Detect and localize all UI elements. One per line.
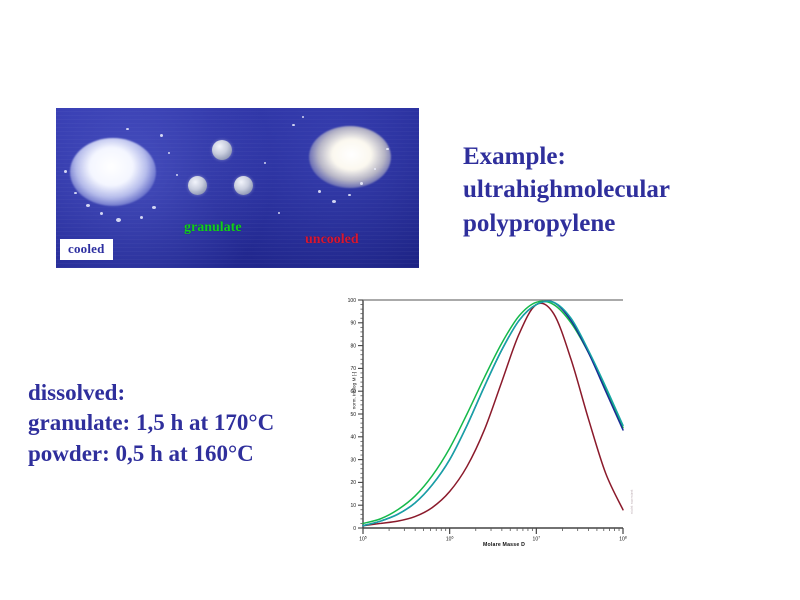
dissolution-notes-line-3: powder: 0,5 h at 160°C (28, 439, 358, 469)
svg-text:10: 10 (350, 503, 356, 509)
dissolution-notes-line-2: granulate: 1,5 h at 170°C (28, 408, 358, 438)
svg-text:107: 107 (533, 536, 541, 543)
uncooled-powder-pile (309, 126, 391, 188)
dissolution-notes-line-1: dissolved: (28, 378, 358, 408)
cooled-powder-pile (70, 138, 156, 206)
example-heading-line-3: polypropylene (463, 207, 763, 240)
chart-tick-labels: 0102030405060708090100105106107108 (348, 298, 627, 543)
granulate-bead (212, 140, 232, 160)
photo-label-uncooled: uncooled (305, 232, 359, 248)
chart-plot-svg: 0102030405060708090100105106107108 (331, 292, 631, 550)
example-heading: Example: ultrahighmolecular polypropylen… (463, 140, 763, 240)
example-heading-line-2: ultrahighmolecular (463, 173, 763, 206)
svg-text:0: 0 (353, 526, 356, 532)
chart-side-annotation: nicht normiert (630, 444, 634, 514)
svg-text:30: 30 (350, 457, 356, 463)
chart-x-axis-title: Molare Masse D (483, 542, 525, 548)
svg-text:100: 100 (348, 298, 357, 304)
chart-y-axis-title: norm. int/log M [-] (352, 341, 357, 441)
svg-text:106: 106 (446, 536, 454, 543)
svg-text:108: 108 (619, 536, 627, 543)
svg-text:20: 20 (350, 480, 356, 486)
granulate-bead (188, 176, 207, 195)
sample-photograph: cooled granulate uncooled (56, 108, 419, 268)
dissolution-notes: dissolved: granulate: 1,5 h at 170°C pow… (28, 378, 358, 469)
photo-label-cooled: cooled (60, 239, 113, 260)
granulate-bead (234, 176, 253, 195)
svg-text:105: 105 (359, 536, 367, 543)
svg-text:90: 90 (350, 321, 356, 327)
photo-label-granulate: granulate (184, 220, 242, 236)
chart-tick-marks (358, 300, 623, 534)
example-heading-line-1: Example: (463, 140, 763, 173)
molar-mass-distribution-chart: 0102030405060708090100105106107108 norm.… (331, 292, 631, 550)
chart-axes (363, 300, 623, 528)
chart-series-lines (363, 301, 623, 526)
